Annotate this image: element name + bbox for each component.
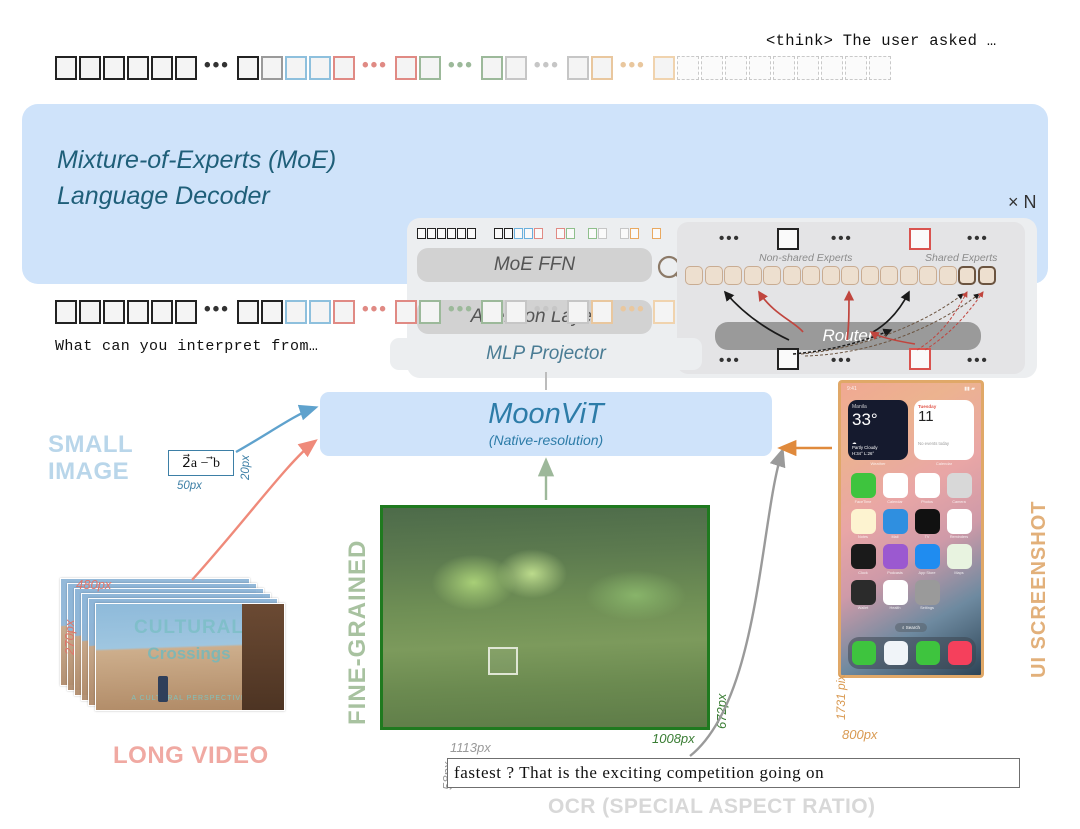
ellipsis-dots: •••: [448, 56, 474, 75]
mini-token: [588, 228, 597, 239]
app-icon-glyph: [851, 580, 876, 605]
small-image-label: SMALL IMAGE: [48, 432, 133, 486]
mini-token: [494, 228, 503, 239]
mini-token: [457, 228, 466, 239]
token-square-dashed: [821, 56, 843, 80]
weather-temp: 33°: [852, 411, 904, 428]
app-icon-glyph: [883, 580, 908, 605]
moe-title-line1: Mixture-of-Experts (MoE): [57, 142, 336, 178]
token-square: [103, 56, 125, 80]
token-square-dashed: [797, 56, 819, 80]
mlp-projector-block[interactable]: MLP Projector: [390, 338, 702, 370]
token-square: [591, 300, 613, 324]
moe-ffn-block[interactable]: MoE FFN: [417, 248, 652, 282]
token-square: [127, 56, 149, 80]
expert-panel: ••• ••• ••• Non-shared Experts Shared Ex…: [677, 222, 1025, 374]
token-square: [567, 56, 589, 80]
app-icon-label: Podcasts: [881, 571, 909, 575]
token-square-dashed: [869, 56, 891, 80]
app-icon-glyph: [883, 473, 908, 498]
app-icon-wallet[interactable]: Wallet: [849, 580, 877, 611]
token-square: [481, 300, 503, 324]
app-icon-reminders[interactable]: Reminders: [945, 509, 973, 540]
small-image-label-line1: SMALL: [48, 432, 133, 459]
small-image-thumbnail: 2⃗a − ⃗b: [168, 450, 234, 476]
app-icon-label: Reminders: [945, 535, 973, 539]
token-square: [151, 56, 173, 80]
token-square-dashed: [701, 56, 723, 80]
mini-token: [467, 228, 476, 239]
long-video-height-label: 270px: [62, 620, 77, 655]
app-icon-glyph: [947, 544, 972, 569]
app-icon-label: Camera: [945, 500, 973, 504]
calendar-widget-caption: Calendar: [914, 461, 974, 466]
small-image-label-line2: IMAGE: [48, 459, 133, 486]
token-square: [395, 56, 417, 80]
ellipsis-dots: •••: [534, 56, 560, 75]
token-square: [333, 56, 355, 80]
weather-city: Manila: [852, 404, 904, 410]
token-square: [55, 56, 77, 80]
token-square: [419, 56, 441, 80]
token-square: [505, 56, 527, 80]
long-video-width-label: 480px: [76, 577, 111, 592]
region-highlight-box: [488, 647, 518, 675]
token-square: [591, 56, 613, 80]
app-icon-tv[interactable]: TV: [913, 509, 941, 540]
layer-input-tokens: [417, 228, 662, 239]
mini-token: [556, 228, 565, 239]
token-square: [285, 56, 307, 80]
app-icon-label: Settings: [913, 606, 941, 610]
dock-icon-phone[interactable]: [852, 641, 876, 665]
token-square-dashed: [725, 56, 747, 80]
token-square: [567, 300, 589, 324]
token-square: [261, 300, 283, 324]
ui-screenshot-label: UI SCREENSHOT: [1028, 501, 1051, 678]
moe-ffn-label: MoE FFN: [494, 254, 575, 276]
app-icon-glyph: [915, 544, 940, 569]
token-square: [237, 56, 259, 80]
mini-token: [437, 228, 446, 239]
app-icon-label: FaceTime: [849, 500, 877, 504]
output-token-row: ••• ••• ••• ••• •••: [55, 56, 893, 80]
token-square: [79, 56, 101, 80]
moe-title-line2: Language Decoder: [57, 178, 336, 214]
app-icon-glyph: [915, 580, 940, 605]
token-square: [309, 300, 331, 324]
phone-status-bar: 9:41 ▮▮ ▰: [841, 383, 981, 395]
moonvit-subtitle: (Native-resolution): [489, 432, 603, 448]
app-icon-label: Maps: [945, 571, 973, 575]
search-icon: ⌕: [902, 625, 905, 630]
token-square: [79, 300, 101, 324]
status-icons: ▮▮ ▰: [964, 386, 975, 392]
app-icon-label: Notes: [849, 535, 877, 539]
ellipsis-dots: •••: [204, 56, 230, 75]
app-icon-clock[interactable]: Clock: [849, 544, 877, 575]
fine-grained-height-label: 672px: [714, 694, 729, 729]
ellipsis-dots: •••: [362, 300, 388, 319]
token-square-dashed: [749, 56, 771, 80]
mini-token: [504, 228, 513, 239]
mini-token: [417, 228, 426, 239]
mini-token: [620, 228, 629, 239]
token-square: [175, 300, 197, 324]
token-square: [175, 56, 197, 80]
ellipsis-dots: •••: [448, 300, 474, 319]
token-square: [481, 56, 503, 80]
app-icon-glyph: [851, 473, 876, 498]
token-square: [309, 56, 331, 80]
ellipsis-dots: •••: [204, 300, 230, 319]
moonvit-title: MoonViT: [488, 400, 604, 429]
token-square-dashed: [773, 56, 795, 80]
app-icon-notes[interactable]: Notes: [849, 509, 877, 540]
long-video-label: LONG VIDEO: [113, 742, 269, 770]
app-icon-glyph: [883, 509, 908, 534]
ocr-label: OCR (SPECIAL ASPECT RATIO): [548, 795, 875, 819]
app-icon-health[interactable]: Health: [881, 580, 909, 611]
app-icon-label: Clock: [849, 571, 877, 575]
mini-token: [524, 228, 533, 239]
search-pill[interactable]: ⌕ Search: [895, 623, 927, 632]
mini-token: [652, 228, 661, 239]
app-icon-maps[interactable]: Maps: [945, 544, 973, 575]
token-square: [419, 300, 441, 324]
app-icon-label: Wallet: [849, 606, 877, 610]
fine-grained-image: [380, 505, 710, 730]
app-icon-mail[interactable]: Mail: [881, 509, 909, 540]
ellipsis-dots: •••: [362, 56, 388, 75]
dock-icon-music[interactable]: [948, 641, 972, 665]
ocr-handwriting-text: fastest ? That is the exciting competiti…: [454, 763, 824, 783]
token-square: [261, 56, 283, 80]
app-icon-glyph: [947, 473, 972, 498]
diagram-canvas: ••• ••• ••• ••• ••• <think> The user ask…: [0, 0, 1080, 829]
calendar-events: No events today: [918, 441, 949, 446]
routing-arrows: [677, 222, 1025, 374]
moonvit-encoder-block[interactable]: MoonViT (Native-resolution): [320, 392, 772, 456]
ellipsis-dots: •••: [620, 56, 646, 75]
calendar-widget[interactable]: Tuesday 11 No events today: [914, 400, 974, 460]
small-image-width-label: 50px: [177, 480, 202, 492]
phone-dock: [848, 637, 976, 669]
mini-token: [566, 228, 575, 239]
ellipsis-dots: •••: [534, 300, 560, 319]
moe-decoder-panel: Mixture-of-Experts (MoE) Language Decode…: [22, 104, 1048, 284]
ui-screenshot-phone: 9:41 ▮▮ ▰ Manila 33° ☁ Partly Cloudy H:3…: [838, 380, 984, 678]
tea-field-photo: [380, 505, 710, 730]
token-square: [55, 300, 77, 324]
input-token-row: ••• ••• ••• ••• •••: [55, 300, 677, 324]
ocr-width-label: 1113px: [450, 740, 491, 755]
weather-widget-caption: Weather: [848, 461, 908, 466]
app-icon-glyph: [851, 544, 876, 569]
app-icon-settings[interactable]: Settings: [913, 580, 941, 611]
token-square-dashed: [845, 56, 867, 80]
calendar-day: 11: [918, 409, 970, 424]
app-icon-facetime[interactable]: FaceTime: [849, 473, 877, 504]
ellipsis-dots: •••: [620, 300, 646, 319]
token-square: [333, 300, 355, 324]
mini-token: [598, 228, 607, 239]
status-time: 9:41: [847, 386, 857, 392]
weather-range: H:34° L:26°: [852, 451, 878, 457]
dock-icon-safari[interactable]: [884, 641, 908, 665]
app-icon-glyph: [915, 509, 940, 534]
ui-screenshot-height-label: 1731 pix: [834, 675, 848, 720]
app-icon-glyph: [915, 473, 940, 498]
app-icon-label: Mail: [881, 535, 909, 539]
ui-screenshot-width-label: 800px: [842, 727, 877, 742]
long-video-frames: CULTURAL Crossings A CULTURAL PERSPECTIV…: [60, 578, 290, 718]
app-icon-photos[interactable]: Photos: [913, 473, 941, 504]
token-square: [237, 300, 259, 324]
app-grid: FaceTimeCalendarPhotosCameraNotesMailTVR…: [841, 466, 981, 610]
think-text: <think> The user asked …: [766, 32, 996, 50]
token-square: [395, 300, 417, 324]
ocr-strip: fastest ? That is the exciting competiti…: [447, 758, 1020, 788]
dock-icon-messages[interactable]: [916, 641, 940, 665]
app-icon-app-store[interactable]: App Store: [913, 544, 941, 575]
app-icon-label: App Store: [913, 571, 941, 575]
app-icon-label: TV: [913, 535, 941, 539]
app-icon-label: Calendar: [881, 500, 909, 504]
token-square: [653, 56, 675, 80]
app-icon-glyph: [883, 544, 908, 569]
mini-token: [534, 228, 543, 239]
token-square: [103, 300, 125, 324]
weather-widget[interactable]: Manila 33° ☁ Partly Cloudy H:34° L:26°: [848, 400, 908, 460]
fine-grained-width-label: 1008px: [652, 731, 695, 746]
token-square: [151, 300, 173, 324]
formula-text: 2⃗a − ⃗b: [182, 455, 220, 472]
token-square: [653, 300, 675, 324]
token-square: [127, 300, 149, 324]
token-square: [505, 300, 527, 324]
mlp-projector-label: MLP Projector: [486, 343, 606, 365]
search-pill-label: Search: [906, 625, 920, 630]
repeat-count-label: × N: [1008, 192, 1037, 213]
app-icon-podcasts[interactable]: Podcasts: [881, 544, 909, 575]
token-square-dashed: [677, 56, 699, 80]
app-icon-calendar[interactable]: Calendar: [881, 473, 909, 504]
app-icon-camera[interactable]: Camera: [945, 473, 973, 504]
app-icon-glyph: [947, 509, 972, 534]
mini-token: [630, 228, 639, 239]
app-icon-label: Photos: [913, 500, 941, 504]
app-icon-glyph: [851, 509, 876, 534]
app-icon-label: Health: [881, 606, 909, 610]
mini-token: [447, 228, 456, 239]
fine-grained-label: FINE-GRAINED: [344, 540, 372, 725]
moe-title: Mixture-of-Experts (MoE) Language Decode…: [57, 142, 336, 215]
widget-row: Manila 33° ☁ Partly Cloudy H:34° L:26° W…: [841, 395, 981, 466]
small-image-height-label: 20px: [240, 455, 252, 480]
mini-token: [427, 228, 436, 239]
prompt-text: What can you interpret from…: [55, 338, 318, 355]
token-square: [285, 300, 307, 324]
mini-token: [514, 228, 523, 239]
video-frame-front: CULTURAL Crossings A CULTURAL PERSPECTIV…: [95, 603, 285, 711]
